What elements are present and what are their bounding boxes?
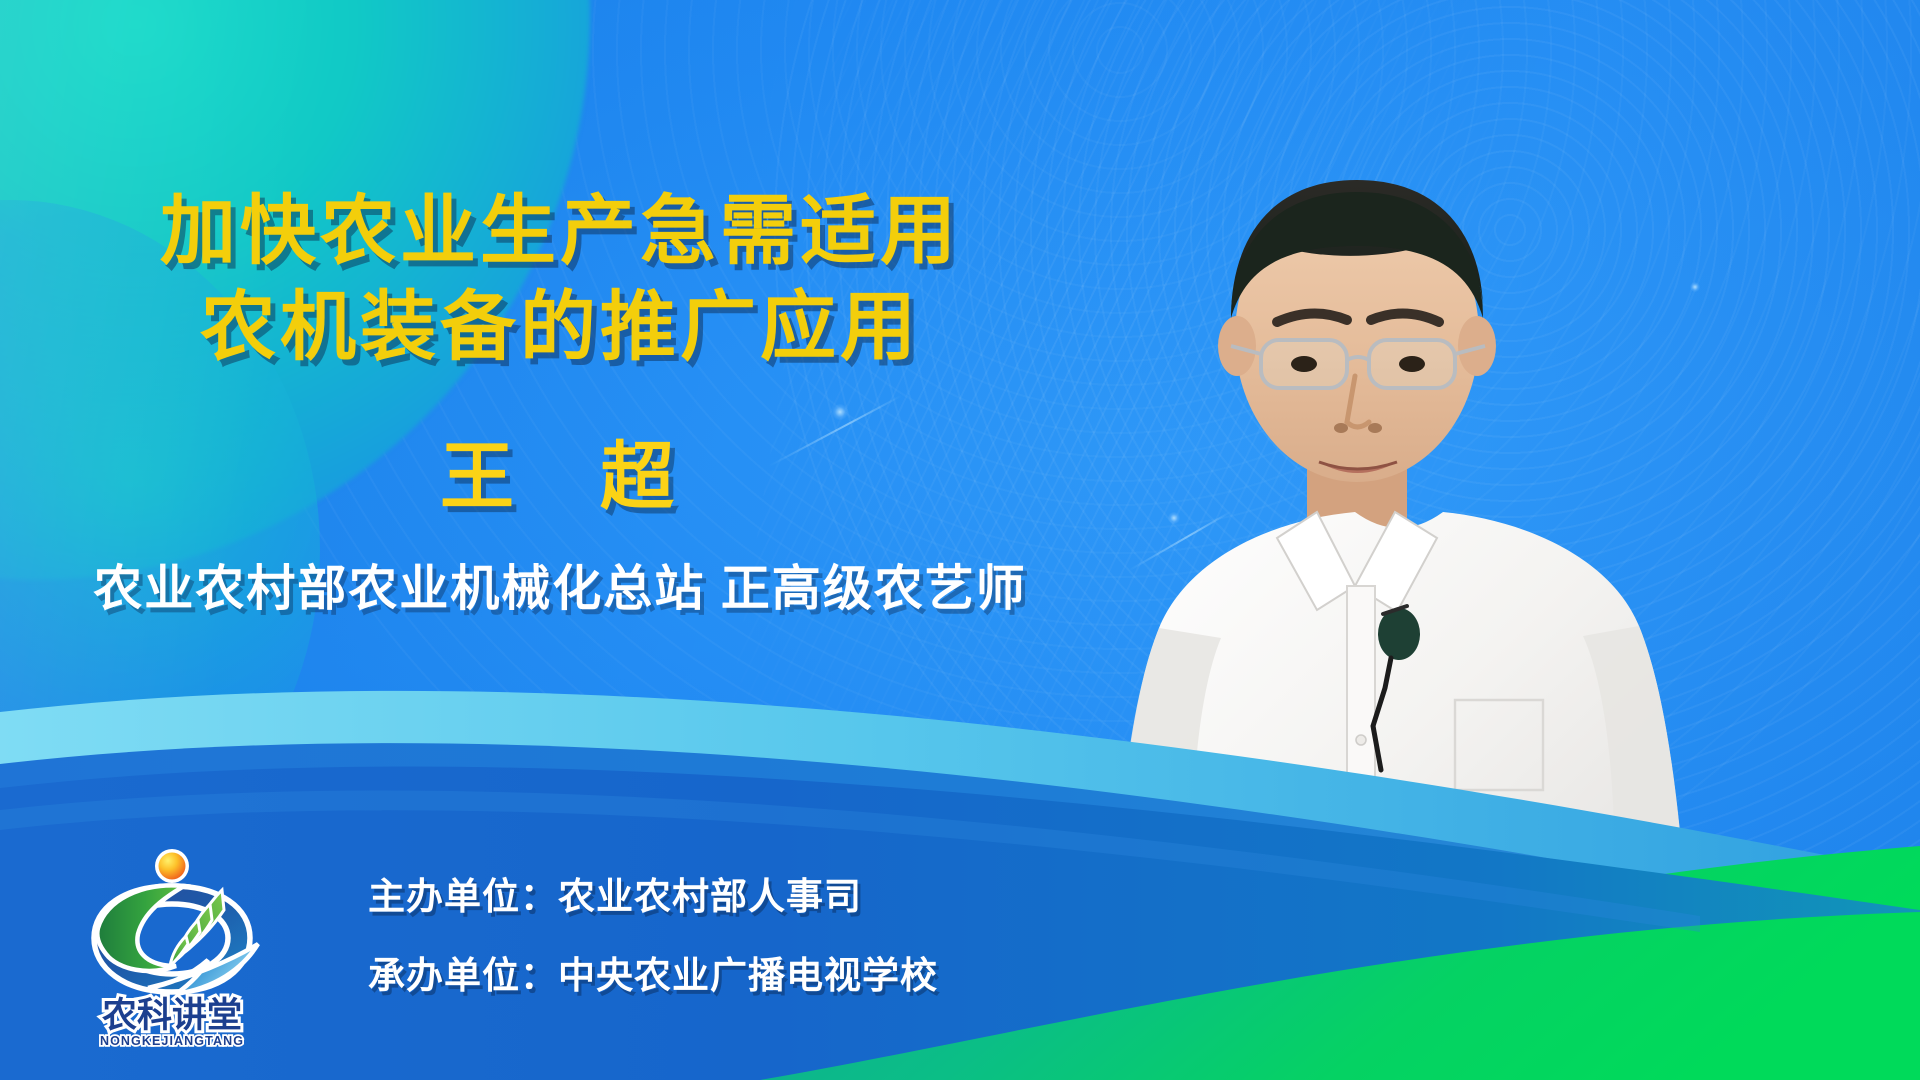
program-logo: 农科讲堂 NONGKEJIANGTANG xyxy=(72,842,272,1052)
logo-title-cn: 农科讲堂 xyxy=(102,996,242,1035)
title-card-slide: 加快农业生产急需适用 农机装备的推广应用 王 超 农业农村部农业机械化总站 正高… xyxy=(0,0,1920,1080)
speaker-affiliation: 农业农村部农业机械化总站 正高级农艺师 xyxy=(0,565,1120,614)
sun-ball-icon xyxy=(155,849,189,883)
logo-title-pinyin: NONGKEJIANGTANG xyxy=(100,1034,244,1048)
bottom-wave-band xyxy=(0,660,1920,1080)
lecture-title-line-1: 加快农业生产急需适用 xyxy=(0,186,1120,277)
organizer-line: 主办单位：农业农村部人事司 xyxy=(368,878,1128,915)
lecture-title-line-2: 农机装备的推广应用 xyxy=(0,282,1120,373)
footer-credits: 主办单位：农业农村部人事司 承办单位：中央农业广播电视学校 xyxy=(368,878,1128,994)
host-line: 承办单位：中央农业广播电视学校 xyxy=(368,957,1128,994)
speaker-name: 王 超 xyxy=(0,440,1120,514)
